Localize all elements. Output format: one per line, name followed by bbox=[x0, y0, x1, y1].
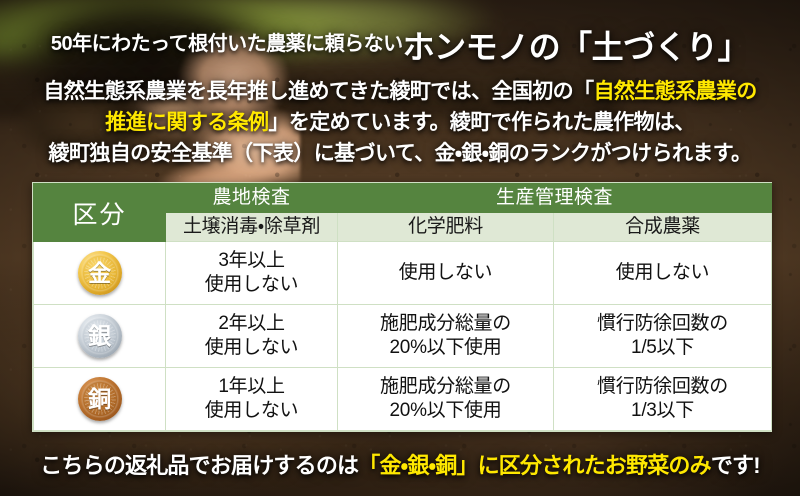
cell-line-2: 使用しない bbox=[166, 273, 337, 297]
cell-fertilizer-silver: 施肥成分総量の 20%以下使用 bbox=[338, 305, 554, 368]
table-header-row-1: 区分 農地検査 生産管理検査 bbox=[34, 184, 772, 213]
cell-line-2: 20%以下使用 bbox=[338, 399, 553, 423]
table-header: 区分 農地検査 生産管理検査 土壌消毒・除草剤 化学肥料 合成農薬 bbox=[34, 184, 772, 242]
lead-line-1-text: 自然生態系農業を長年推し進めてきた綾町では、全国初の「 bbox=[43, 80, 593, 103]
header-sub-soil: 土壌消毒・除草剤 bbox=[166, 213, 338, 242]
gold-medal-label: 金 bbox=[88, 262, 111, 285]
cell-line-2: 使用しない bbox=[166, 336, 337, 360]
table-row: 銀 2年以上 使用しない 施肥成分総量の 20%以下使用 慣行防徐回数の bbox=[34, 305, 772, 368]
cell-line-1: 1年以上 bbox=[166, 375, 337, 399]
cell-line-2: 使用しない bbox=[166, 399, 337, 423]
lead-line-2: 推進に関する条例」を定めています。綾町で作られた農作物は、 bbox=[0, 107, 800, 138]
cell-line-1: 3年以上 bbox=[166, 249, 337, 273]
footer-suffix: です! bbox=[711, 453, 760, 478]
cell-pesticide-bronze: 慣行防徐回数の 1/3以下 bbox=[554, 368, 772, 431]
cell-line-1: 慣行防徐回数の bbox=[554, 312, 771, 336]
footer-prefix: こちらの返礼品でお届けするのは bbox=[40, 453, 358, 478]
cell-line-2: 20%以下使用 bbox=[338, 336, 553, 360]
cell-soil-gold: 3年以上 使用しない bbox=[166, 242, 338, 305]
rank-cell-silver: 銀 bbox=[34, 305, 166, 368]
promo-banner: 50年にわたって根付いた農薬に頼らないホンモノの「土づくり」 自然生態系農業を長… bbox=[0, 0, 800, 496]
headline-emphasis: ホンモノの「土づくり」 bbox=[403, 29, 750, 65]
header-kubun: 区分 bbox=[34, 184, 166, 242]
cell-line-1: 2年以上 bbox=[166, 312, 337, 336]
header-group-farmland: 農地検査 bbox=[166, 184, 338, 213]
cell-line-2: 1/3以下 bbox=[554, 399, 771, 423]
lead-line-1: 自然生態系農業を長年推し進めてきた綾町では、全国初の「自然生態系農業の bbox=[0, 76, 800, 107]
footer-caption: こちらの返礼品でお届けするのは「金・銀・銅」に区分されたお野菜のみです! bbox=[0, 448, 800, 480]
bronze-medal-label: 銅 bbox=[88, 388, 111, 411]
rank-cell-gold: 金 bbox=[34, 242, 166, 305]
header-sub-fertilizer: 化学肥料 bbox=[338, 213, 554, 242]
cell-line-2: 1/5以下 bbox=[554, 336, 771, 360]
cell-line-1: 使用しない bbox=[338, 261, 553, 285]
cell-line-1: 施肥成分総量の bbox=[338, 375, 553, 399]
cell-line-1: 施肥成分総量の bbox=[338, 312, 553, 336]
header-sub-pesticide: 合成農薬 bbox=[554, 213, 772, 242]
cell-line-1: 使用しない bbox=[554, 261, 771, 285]
cell-pesticide-silver: 慣行防徐回数の 1/5以下 bbox=[554, 305, 772, 368]
table-row: 銅 1年以上 使用しない 施肥成分総量の 20%以下使用 慣行防徐回数の bbox=[34, 368, 772, 431]
lead-line-1-highlight: 自然生態系農業の bbox=[593, 80, 756, 103]
standards-table: 区分 農地検査 生産管理検査 土壌消毒・除草剤 化学肥料 合成農薬 bbox=[33, 183, 772, 431]
silver-medal-label: 銀 bbox=[88, 325, 111, 348]
header-group-production: 生産管理検査 bbox=[338, 184, 772, 213]
lead-line-2-text: 」を定めています。綾町で作られた農作物は、 bbox=[268, 111, 694, 134]
footer-highlight: 「金・銀・銅」に区分されたお野菜のみ bbox=[358, 453, 711, 478]
cell-line-1: 慣行防徐回数の bbox=[554, 375, 771, 399]
cell-fertilizer-bronze: 施肥成分総量の 20%以下使用 bbox=[338, 368, 554, 431]
headline-prefix: 50年にわたって根付いた農薬に頼らない bbox=[51, 33, 403, 55]
cell-soil-silver: 2年以上 使用しない bbox=[166, 305, 338, 368]
lead-line-2-highlight: 推進に関する条例 bbox=[105, 111, 268, 134]
silver-medal-icon: 銀 bbox=[78, 314, 122, 358]
cell-fertilizer-gold: 使用しない bbox=[338, 242, 554, 305]
cell-pesticide-gold: 使用しない bbox=[554, 242, 772, 305]
cell-soil-bronze: 1年以上 使用しない bbox=[166, 368, 338, 431]
table-body: 金 3年以上 使用しない 使用しない 使用しない bbox=[34, 242, 772, 431]
headline: 50年にわたって根付いた農薬に頼らないホンモノの「土づくり」 bbox=[0, 22, 800, 68]
standards-table-wrapper: 区分 農地検査 生産管理検査 土壌消毒・除草剤 化学肥料 合成農薬 bbox=[32, 182, 772, 432]
table-row: 金 3年以上 使用しない 使用しない 使用しない bbox=[34, 242, 772, 305]
gold-medal-icon: 金 bbox=[78, 251, 122, 295]
rank-cell-bronze: 銅 bbox=[34, 368, 166, 431]
lead-line-3: 綾町独自の安全基準（下表）に基づいて、金・銀・銅のランクがつけられます。 bbox=[0, 138, 800, 169]
bronze-medal-icon: 銅 bbox=[78, 377, 122, 421]
lead-paragraph: 自然生態系農業を長年推し進めてきた綾町では、全国初の「自然生態系農業の 推進に関… bbox=[0, 76, 800, 169]
